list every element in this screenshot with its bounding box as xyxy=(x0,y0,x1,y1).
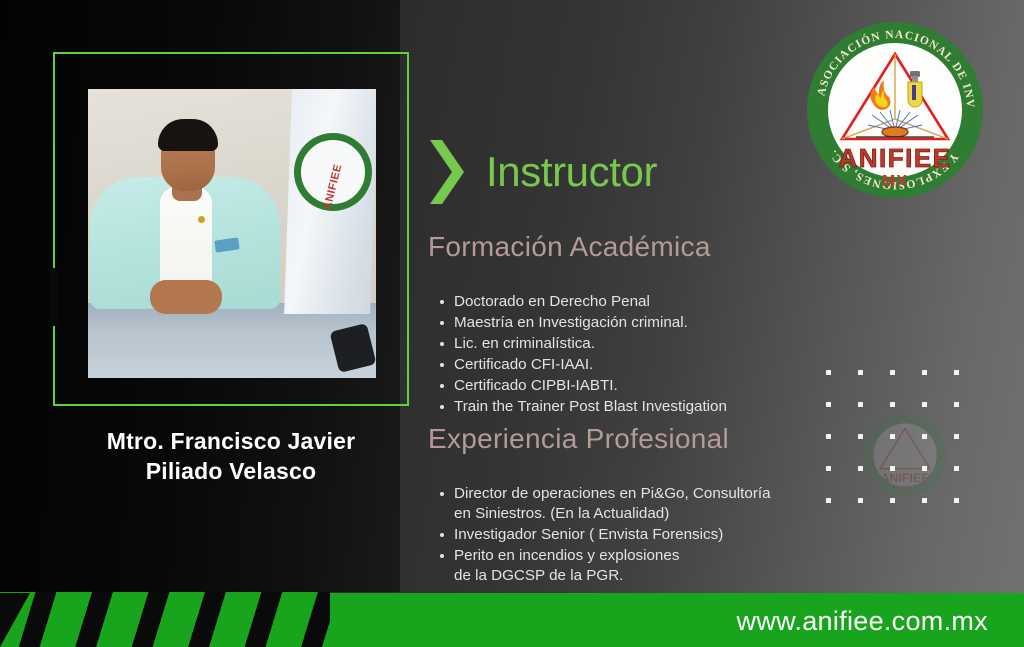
list-item: Director de operaciones en Pi&Go, Consul… xyxy=(454,484,771,524)
dot-grid xyxy=(826,370,986,530)
grid-dot xyxy=(954,402,959,407)
photo-banner-triangle-icon xyxy=(307,156,359,200)
list-item: Investigador Senior ( Envista Forensics) xyxy=(454,525,771,545)
grid-dot xyxy=(954,434,959,439)
photo-hands xyxy=(150,280,222,314)
grid-dot xyxy=(890,370,895,375)
chevron-right-icon xyxy=(428,140,466,204)
grid-dot xyxy=(826,498,831,503)
experience-list: Director de operaciones en Pi&Go, Consul… xyxy=(428,484,771,587)
list-item: Certificado CIPBI-IABTI. xyxy=(454,376,727,396)
grid-dot xyxy=(954,498,959,503)
grid-dot xyxy=(890,402,895,407)
grid-dot xyxy=(858,498,863,503)
grid-dot xyxy=(890,434,895,439)
list-item: Train the Trainer Post Blast Investigati… xyxy=(454,397,727,417)
instructor-photo: ANIFIEE xyxy=(88,89,376,378)
section-heading-experience: Experiencia Profesional xyxy=(428,425,729,453)
photo-banner-logo-icon: ANIFIEE xyxy=(294,133,372,211)
grid-dot xyxy=(890,498,895,503)
list-item: Perito en incendios y explosiones de la … xyxy=(454,546,771,586)
logo-country: MX xyxy=(882,173,908,190)
grid-dot xyxy=(826,434,831,439)
logo-name: ANIFIEE xyxy=(838,143,951,173)
grid-dot xyxy=(922,370,927,375)
photo-banner-logo-text: ANIFIEE xyxy=(319,154,346,219)
website-url[interactable]: www.anifiee.com.mx xyxy=(737,606,988,637)
grid-dot xyxy=(826,466,831,471)
anifiee-logo-icon: ASOCIACIÓN NACIONAL DE INVESTIGADORES FO… xyxy=(804,19,986,201)
list-item: Doctorado en Derecho Penal xyxy=(454,292,727,312)
grid-dot xyxy=(826,402,831,407)
instructor-role-label: Instructor xyxy=(486,151,657,193)
photo-lapel-pin xyxy=(198,216,205,223)
grid-dot xyxy=(858,402,863,407)
grid-dot xyxy=(954,466,959,471)
academic-list: Doctorado en Derecho Penal Maestría en I… xyxy=(428,292,727,417)
grid-dot xyxy=(858,370,863,375)
grid-dot xyxy=(922,434,927,439)
instructor-name-line1: Mtro. Francisco Javier xyxy=(50,427,412,457)
grid-dot xyxy=(922,402,927,407)
grid-dot xyxy=(954,370,959,375)
section-heading-academic: Formación Académica xyxy=(428,233,711,261)
list-item: Lic. en criminalística. xyxy=(454,334,727,354)
content-column: Instructor Formación Académica Doctorado… xyxy=(428,0,848,592)
grid-dot xyxy=(922,466,927,471)
instructor-name-line2: Piliado Velasco xyxy=(50,457,412,487)
grid-dot xyxy=(890,466,895,471)
instructor-name: Mtro. Francisco Javier Piliado Velasco xyxy=(50,427,412,487)
list-item: Certificado CFI-IAAI. xyxy=(454,355,727,375)
photo-frame-gap xyxy=(50,268,58,326)
slide-canvas: ANIFIEE Mtro. Francisco Javier Piliado V… xyxy=(0,0,1024,647)
grid-dot xyxy=(858,466,863,471)
instructor-heading-row: Instructor xyxy=(428,140,657,204)
list-item: Maestría en Investigación criminal. xyxy=(454,313,727,333)
hazard-stripes xyxy=(0,592,330,647)
grid-dot xyxy=(922,498,927,503)
grid-dot xyxy=(858,434,863,439)
grid-dot xyxy=(826,370,831,375)
